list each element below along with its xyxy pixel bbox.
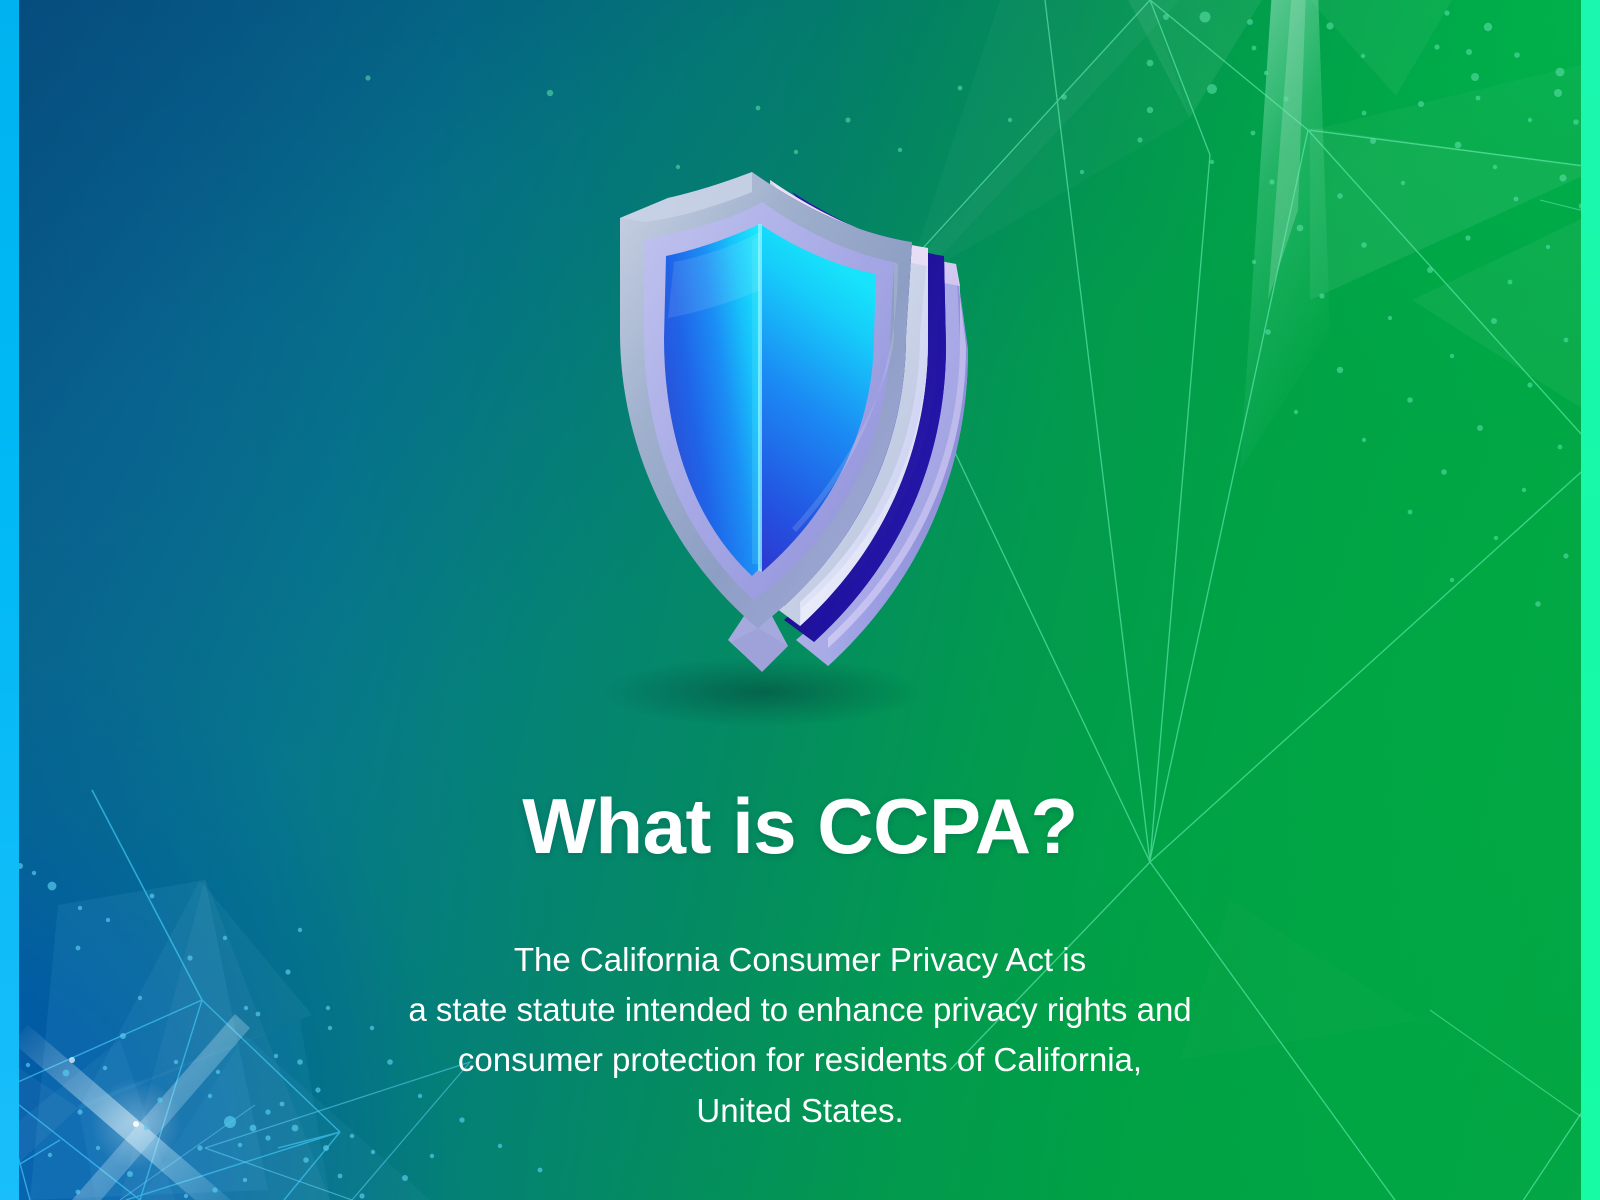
left-edge-accent-strip (0, 0, 19, 1200)
body-line-2: a state statute intended to enhance priv… (40, 985, 1560, 1035)
text-block: What is CCPA? The California Consumer Pr… (0, 786, 1600, 1136)
body-line-1: The California Consumer Privacy Act is (40, 935, 1560, 985)
body-paragraph: The California Consumer Privacy Act is a… (40, 867, 1560, 1136)
page-title: What is CCPA? (40, 786, 1560, 867)
body-line-3: consumer protection for residents of Cal… (40, 1035, 1560, 1085)
body-line-4: United States. (40, 1086, 1560, 1136)
right-edge-accent-strip (1581, 0, 1600, 1200)
shield-icon (556, 140, 1016, 740)
slide-canvas: What is CCPA? The California Consumer Pr… (0, 0, 1600, 1200)
shield-illustration (556, 140, 1016, 740)
